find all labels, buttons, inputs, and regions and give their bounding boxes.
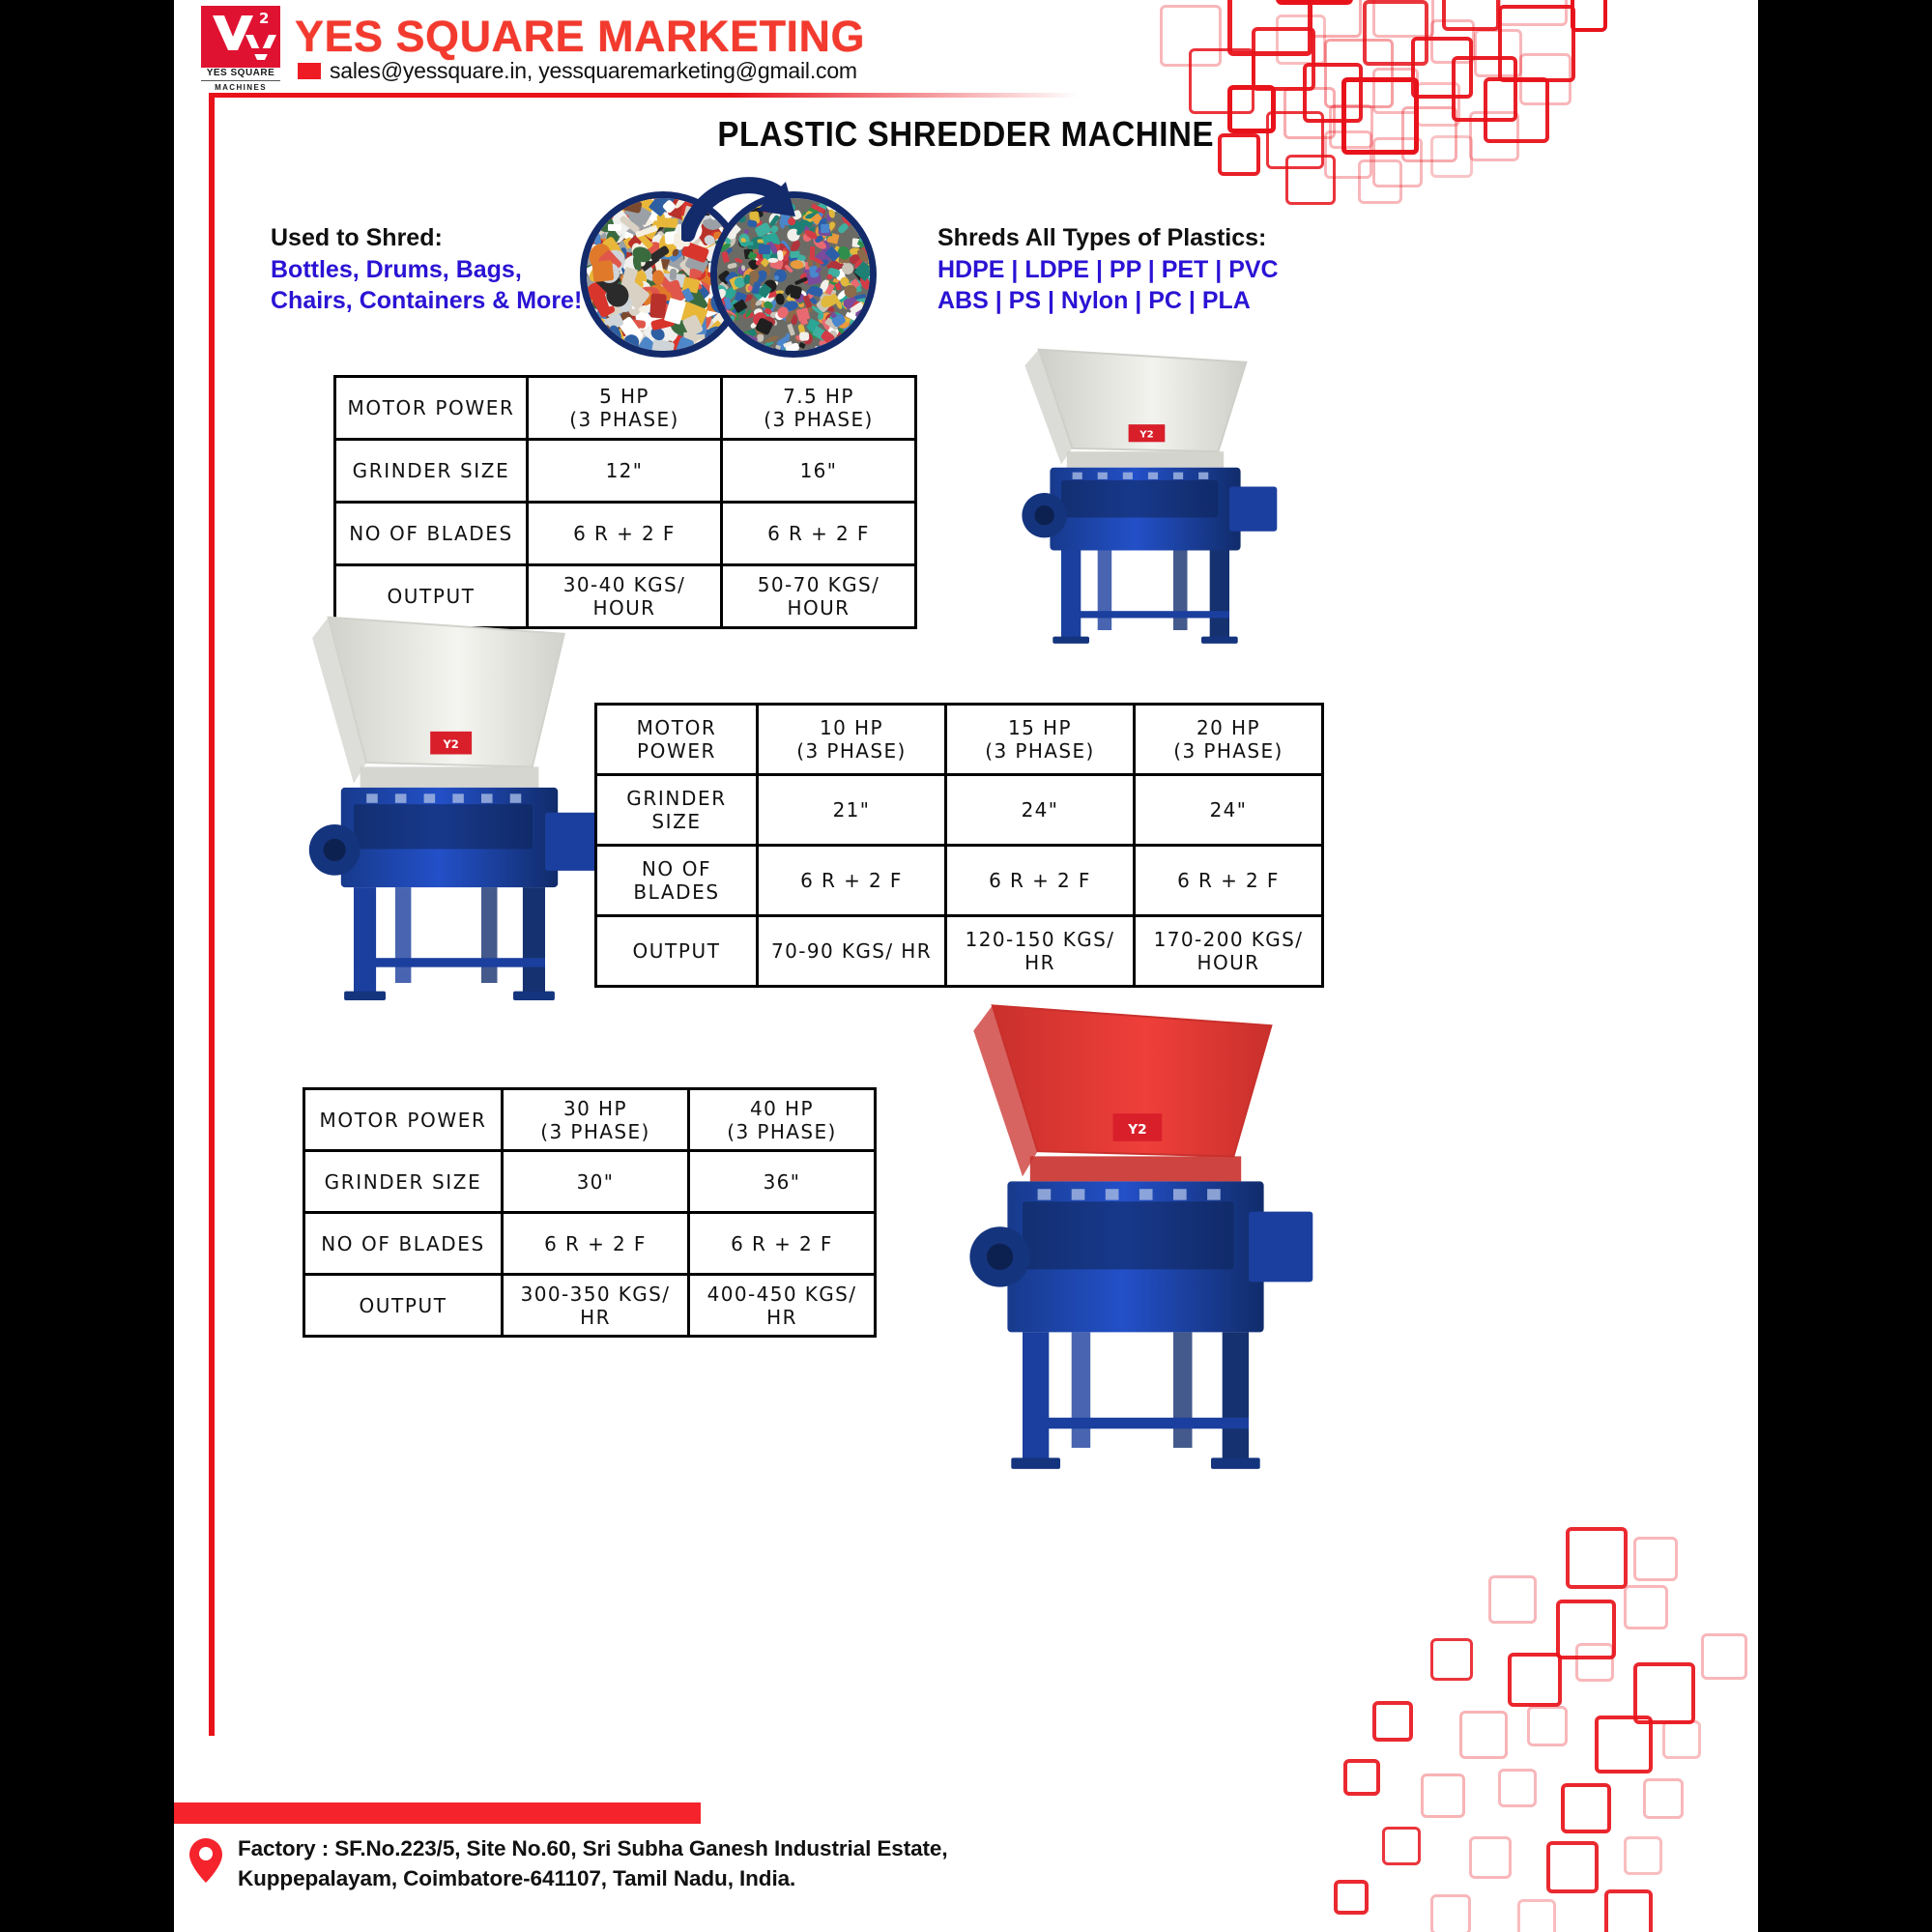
decorative-square bbox=[1527, 1706, 1568, 1746]
location-pin-icon bbox=[189, 1838, 222, 1883]
row-value: 6 R + 2 F bbox=[1135, 846, 1323, 916]
row-value: 6 R + 2 F bbox=[758, 846, 946, 916]
decorative-square bbox=[1343, 1759, 1380, 1796]
decorative-square bbox=[1575, 1643, 1614, 1682]
machine-illustration: Y2 bbox=[290, 609, 609, 1024]
row-value: 12" bbox=[528, 440, 722, 503]
decorative-square bbox=[1498, 1769, 1537, 1807]
row-value: 20 HP(3 PHASE) bbox=[1135, 705, 1323, 775]
decorative-square bbox=[1595, 1716, 1653, 1773]
row-value: 50-70 KGS/ HOUR bbox=[722, 565, 916, 628]
row-value: 15 HP(3 PHASE) bbox=[946, 705, 1135, 775]
row-label: MOTOR POWER bbox=[304, 1089, 503, 1151]
table-row: MOTOR POWER30 HP(3 PHASE)40 HP(3 PHASE) bbox=[304, 1089, 876, 1151]
process-arrow-icon bbox=[681, 174, 807, 242]
company-logo: 2 YES SQUARE MACHINES bbox=[201, 6, 280, 87]
used-to-shred-heading: Used to Shred: bbox=[271, 224, 443, 252]
decorative-square bbox=[1358, 159, 1402, 204]
table-row: NO OF BLADES6 R + 2 F6 R + 2 F bbox=[304, 1213, 876, 1275]
svg-text:2: 2 bbox=[259, 10, 269, 27]
row-label: OUTPUT bbox=[304, 1275, 503, 1337]
header-rule bbox=[209, 93, 1079, 98]
decorative-square bbox=[1604, 1889, 1653, 1932]
row-value: 24" bbox=[1135, 775, 1323, 846]
used-to-shred-line2: Chairs, Containers & More! bbox=[271, 287, 582, 315]
email-row: sales@yessquare.in, yessquaremarketing@g… bbox=[298, 58, 857, 84]
table-row: NO OF BLADES6 R + 2 F6 R + 2 F bbox=[335, 503, 916, 565]
envelope-icon bbox=[298, 63, 321, 79]
row-value: 7.5 HP(3 PHASE) bbox=[722, 377, 916, 440]
decorative-square bbox=[1372, 1701, 1413, 1742]
row-value: 40 HP(3 PHASE) bbox=[689, 1089, 876, 1151]
decorative-square bbox=[1643, 1778, 1684, 1819]
svg-text:Y2: Y2 bbox=[1139, 429, 1153, 440]
svg-text:Y2: Y2 bbox=[1127, 1122, 1146, 1138]
table-row: NO OFBLADES6 R + 2 F6 R + 2 F6 R + 2 F bbox=[596, 846, 1323, 916]
row-label: GRINDER SIZE bbox=[335, 440, 528, 503]
table-row: GRINDER SIZE21"24"24" bbox=[596, 775, 1323, 846]
row-value: 16" bbox=[722, 440, 916, 503]
shreds-types-line2: ABS | PS | Nylon | PC | PLA bbox=[937, 287, 1251, 315]
poster-page: 2 YES SQUARE MACHINES YES SQUARE MARKETI… bbox=[0, 0, 1932, 1932]
machine-illustration: Y2 bbox=[1005, 343, 1285, 662]
row-value: 6 R + 2 F bbox=[946, 846, 1135, 916]
row-label: GRINDER SIZE bbox=[596, 775, 758, 846]
logo-label-primary: YES SQUARE bbox=[201, 68, 280, 78]
page-title: PLASTIC SHREDDER MACHINE bbox=[174, 114, 1758, 155]
decorative-square bbox=[1488, 1575, 1537, 1624]
footer-address-line1: Factory : SF.No.223/5, Site No.60, Sri S… bbox=[238, 1836, 947, 1861]
shreds-types-heading: Shreds All Types of Plastics: bbox=[937, 224, 1266, 252]
decorative-square bbox=[1421, 1773, 1465, 1818]
decorative-square bbox=[1517, 1899, 1556, 1932]
row-label: GRINDER SIZE bbox=[304, 1151, 503, 1213]
row-value: 5 HP(3 PHASE) bbox=[528, 377, 722, 440]
row-value: 10 HP(3 PHASE) bbox=[758, 705, 946, 775]
decorative-square bbox=[1701, 1633, 1747, 1680]
row-value: 70-90 KGS/ HR bbox=[758, 916, 946, 987]
shreds-types-line1: HDPE | LDPE | PP | PET | PVC bbox=[937, 256, 1279, 284]
row-value: 21" bbox=[758, 775, 946, 846]
decorative-square bbox=[1430, 1894, 1471, 1932]
used-to-shred-line1: Bottles, Drums, Bags, bbox=[271, 256, 522, 284]
svg-text:Y2: Y2 bbox=[442, 737, 458, 751]
page-title-text: PLASTIC SHREDDER MACHINE bbox=[718, 114, 1215, 155]
row-label: NO OFBLADES bbox=[596, 846, 758, 916]
left-frame-accent bbox=[209, 93, 215, 1736]
row-value: 6 R + 2 F bbox=[722, 503, 916, 565]
decorative-square bbox=[1382, 1827, 1421, 1865]
decorative-square bbox=[1508, 1653, 1562, 1707]
decorative-square bbox=[1459, 1711, 1508, 1759]
table-row: GRINDER SIZE12"16" bbox=[335, 440, 916, 503]
row-value: 30 HP(3 PHASE) bbox=[503, 1089, 689, 1151]
poster-sheet: 2 YES SQUARE MACHINES YES SQUARE MARKETI… bbox=[174, 0, 1758, 1932]
table-row: GRINDER SIZE30"36" bbox=[304, 1151, 876, 1213]
spec-table-2: MOTORPOWER10 HP(3 PHASE)15 HP(3 PHASE)20… bbox=[594, 703, 1324, 988]
decorative-square bbox=[1633, 1537, 1678, 1581]
table-row: OUTPUT300-350 KGS/ HR400-450 KGS/ HR bbox=[304, 1275, 876, 1337]
machine-photo-10hp: Y2 bbox=[290, 609, 609, 1024]
footer-address-line2: Kuppepalayam, Coimbatore-641107, Tamil N… bbox=[238, 1866, 795, 1891]
header: 2 YES SQUARE MACHINES YES SQUARE MARKETI… bbox=[174, 0, 1758, 104]
row-value: 30" bbox=[503, 1151, 689, 1213]
footer-accent-bar bbox=[174, 1802, 701, 1824]
decorative-square bbox=[1469, 1836, 1512, 1879]
table-row: MOTORPOWER10 HP(3 PHASE)15 HP(3 PHASE)20… bbox=[596, 705, 1323, 775]
decorative-square bbox=[1546, 1841, 1599, 1893]
row-label: OUTPUT bbox=[596, 916, 758, 987]
spec-table-1: MOTOR POWER5 HP(3 PHASE)7.5 HP(3 PHASE)G… bbox=[333, 375, 917, 629]
company-name: YES SQUARE MARKETING bbox=[295, 12, 865, 62]
row-value: 36" bbox=[689, 1151, 876, 1213]
decorative-square bbox=[1624, 1836, 1662, 1875]
machine-photo-5hp: Y2 bbox=[1005, 343, 1285, 662]
decorative-square bbox=[1430, 1638, 1473, 1681]
decorative-square bbox=[1334, 1880, 1369, 1915]
row-value: 6 R + 2 F bbox=[528, 503, 722, 565]
row-label: NO OF BLADES bbox=[335, 503, 528, 565]
table-row: OUTPUT70-90 KGS/ HR120-150 KGS/ HR170-20… bbox=[596, 916, 1323, 987]
row-label: MOTOR POWER bbox=[335, 377, 528, 440]
row-label: MOTORPOWER bbox=[596, 705, 758, 775]
table-row: MOTOR POWER5 HP(3 PHASE)7.5 HP(3 PHASE) bbox=[335, 377, 916, 440]
decorative-square bbox=[1285, 155, 1336, 205]
logo-mark-icon: 2 bbox=[201, 6, 280, 68]
decorative-square bbox=[1624, 1585, 1668, 1629]
spec-table-3: MOTOR POWER30 HP(3 PHASE)40 HP(3 PHASE)G… bbox=[303, 1087, 877, 1338]
logo-label-secondary: MACHINES bbox=[201, 80, 280, 92]
decorative-square bbox=[1566, 1527, 1628, 1589]
row-value: 6 R + 2 F bbox=[503, 1213, 689, 1275]
decorative-square bbox=[1561, 1783, 1611, 1833]
row-value: 170-200 KGS/ HOUR bbox=[1135, 916, 1323, 987]
row-value: 300-350 KGS/ HR bbox=[503, 1275, 689, 1337]
row-value: 120-150 KGS/ HR bbox=[946, 916, 1135, 987]
row-value: 6 R + 2 F bbox=[689, 1213, 876, 1275]
row-value: 24" bbox=[946, 775, 1135, 846]
before-after-illustration bbox=[580, 178, 899, 347]
row-label: NO OF BLADES bbox=[304, 1213, 503, 1275]
decorative-square bbox=[1662, 1720, 1701, 1759]
row-value: 400-450 KGS/ HR bbox=[689, 1275, 876, 1337]
decorative-squares-bottom-right bbox=[1314, 1546, 1758, 1932]
email-text: sales@yessquare.in, yessquaremarketing@g… bbox=[330, 58, 857, 84]
machine-illustration: Y2 bbox=[947, 995, 1324, 1498]
machine-photo-30hp: Y2 bbox=[947, 995, 1324, 1498]
